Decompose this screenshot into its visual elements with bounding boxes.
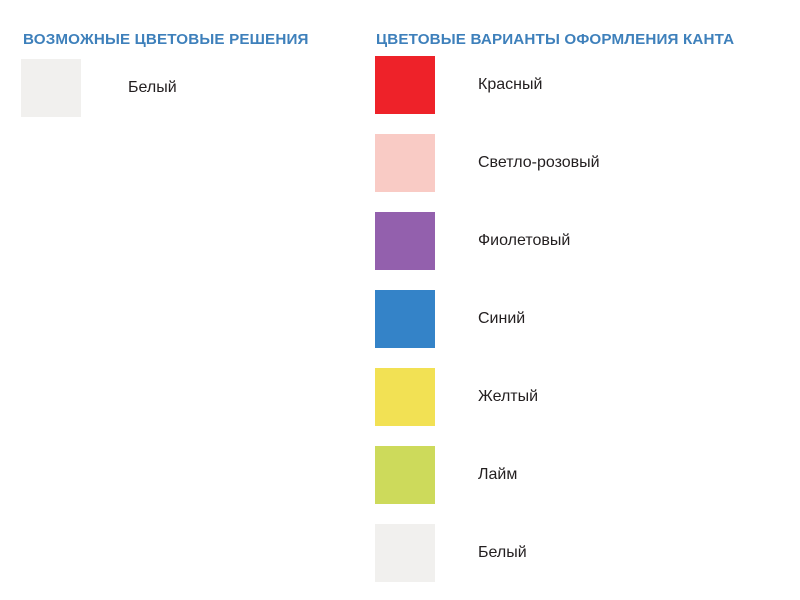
color-swatch-label: Светло-розовый [478, 134, 600, 192]
color-swatch[interactable] [375, 134, 435, 192]
column-title-possible-color-solutions: ВОЗМОЖНЫЕ ЦВЕТОВЫЕ РЕШЕНИЯ [23, 32, 309, 47]
color-swatch-label: Белый [128, 59, 177, 117]
color-swatch-label: Белый [478, 524, 527, 582]
color-swatch[interactable] [375, 212, 435, 270]
color-swatch[interactable] [375, 290, 435, 348]
color-swatch-label: Красный [478, 56, 542, 114]
swatch-row[interactable]: Белый [0, 59, 360, 117]
swatch-row[interactable]: Фиолетовый [353, 212, 800, 270]
swatch-row[interactable]: Светло-розовый [353, 134, 800, 192]
color-swatch-board: ВОЗМОЖНЫЕ ЦВЕТОВЫЕ РЕШЕНИЯ Белый ЦВЕТОВЫ… [0, 0, 800, 600]
color-swatch[interactable] [375, 56, 435, 114]
swatch-row[interactable]: Белый [353, 524, 800, 582]
color-swatch[interactable] [21, 59, 81, 117]
color-swatch[interactable] [375, 524, 435, 582]
color-swatch[interactable] [375, 446, 435, 504]
color-swatch-label: Желтый [478, 368, 538, 426]
color-swatch[interactable] [375, 368, 435, 426]
swatch-row[interactable]: Синий [353, 290, 800, 348]
swatch-row[interactable]: Красный [353, 56, 800, 114]
swatch-row[interactable]: Желтый [353, 368, 800, 426]
color-swatch-label: Фиолетовый [478, 212, 570, 270]
color-swatch-label: Синий [478, 290, 525, 348]
column-title-edging-color-variants: ЦВЕТОВЫЕ ВАРИАНТЫ ОФОРМЛЕНИЯ КАНТА [376, 32, 734, 47]
swatch-row[interactable]: Лайм [353, 446, 800, 504]
color-swatch-label: Лайм [478, 446, 517, 504]
